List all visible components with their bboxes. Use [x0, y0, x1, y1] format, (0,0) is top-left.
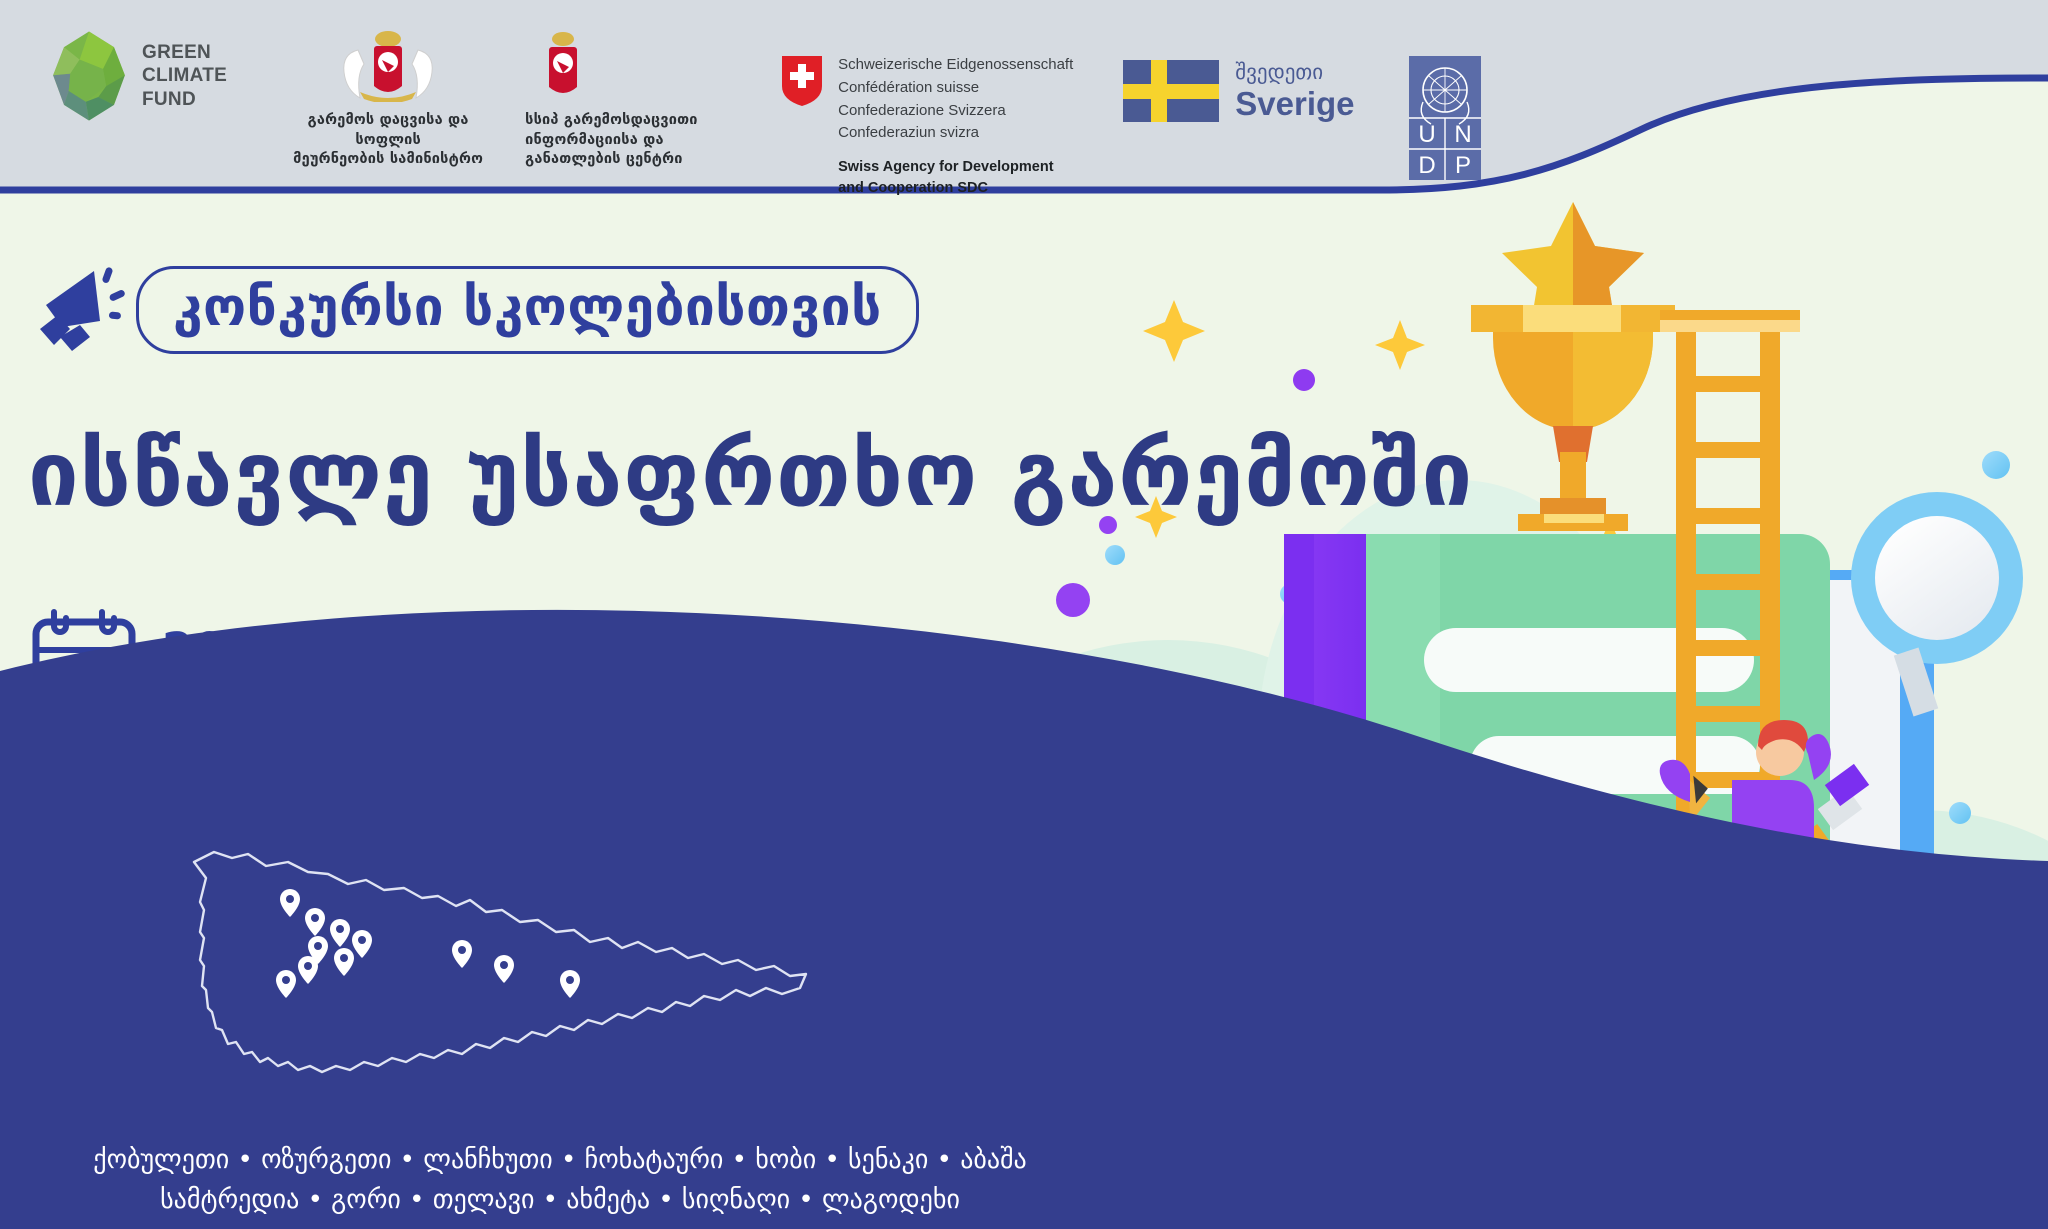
location-pin-icon — [334, 948, 354, 976]
location-pin-icon — [560, 970, 580, 998]
map-pins — [276, 889, 580, 998]
page-title: ისწავლე უსაფრთხო გარემოში — [28, 430, 1473, 520]
location-pin-icon — [452, 940, 472, 968]
badge-label: კონკურსი სკოლებისთვის — [173, 281, 882, 334]
location-pin-icon — [276, 970, 296, 998]
badge-pill[interactable]: კონკურსი სკოლებისთვის — [136, 266, 919, 354]
location-pin-icon — [494, 955, 514, 983]
city-list-line-2: სამტრედია • გორი • თელავი • ახმეტა • სიღ… — [0, 1180, 1120, 1220]
contest-badge[interactable]: კონკურსი სკოლებისთვის — [30, 265, 919, 355]
dot-blue — [1982, 451, 2010, 479]
dot-blue — [1105, 545, 1125, 565]
megaphone-icon — [30, 259, 126, 355]
poster-canvas: GREEN CLIMATE FUND — [0, 0, 2048, 1229]
city-list-line-1: ქობულეთი • ოზურგეთი • ლანჩხუთი • ჩოხატაუ… — [0, 1140, 1120, 1180]
location-pin-icon — [298, 956, 318, 984]
location-pin-icon — [330, 919, 350, 947]
header-divider — [0, 0, 2048, 260]
georgia-map — [170, 838, 810, 1118]
location-pin-icon — [305, 908, 325, 936]
sparkle-icon — [1143, 300, 1205, 362]
location-pin-icon — [280, 889, 300, 917]
city-list: ქობულეთი • ოზურგეთი • ლანჩხუთი • ჩოხატაუ… — [0, 1140, 1120, 1221]
location-pin-icon — [352, 930, 372, 958]
sparkle-icon — [1375, 320, 1425, 370]
dot-purple — [1293, 369, 1315, 391]
